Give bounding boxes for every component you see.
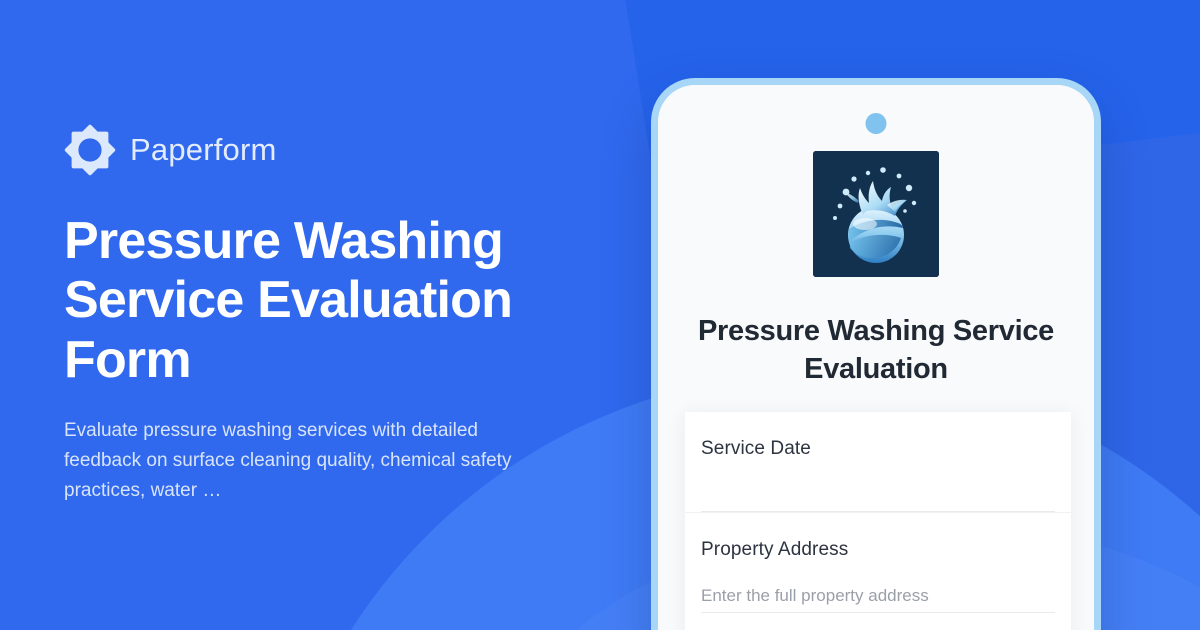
water-splash-logo-icon [813,151,939,277]
paperform-star-logo-icon [64,124,116,176]
og-image-canvas: Paperform Pressure Washing Service Evalu… [0,0,1200,630]
page-description: Evaluate pressure washing services with … [64,416,556,506]
field-label: Property Address [701,539,1055,561]
form-title: Pressure Washing Service Evaluation [692,313,1060,388]
service-date-input[interactable] [701,472,1055,512]
form-field-property-address[interactable]: Property Address Enter the full property… [685,512,1071,613]
field-label: Service Date [701,438,1055,460]
property-address-input[interactable]: Enter the full property address [701,573,1055,613]
form-field-service-date[interactable]: Service Date [685,412,1071,512]
brand-name: Paperform [130,132,277,168]
phone-screen: Pressure Washing Service Evaluation Serv… [658,85,1094,630]
hero-left-column: Paperform Pressure Washing Service Evalu… [64,0,624,630]
phone-mockup: Pressure Washing Service Evaluation Serv… [651,78,1101,630]
form-card: Service Date Property Address Enter the … [685,412,1071,630]
field-placeholder: Enter the full property address [701,586,929,606]
page-title: Pressure Washing Service Evaluation Form [64,212,534,390]
brand-lockup: Paperform [64,124,624,176]
camera-dot-icon [866,113,887,134]
